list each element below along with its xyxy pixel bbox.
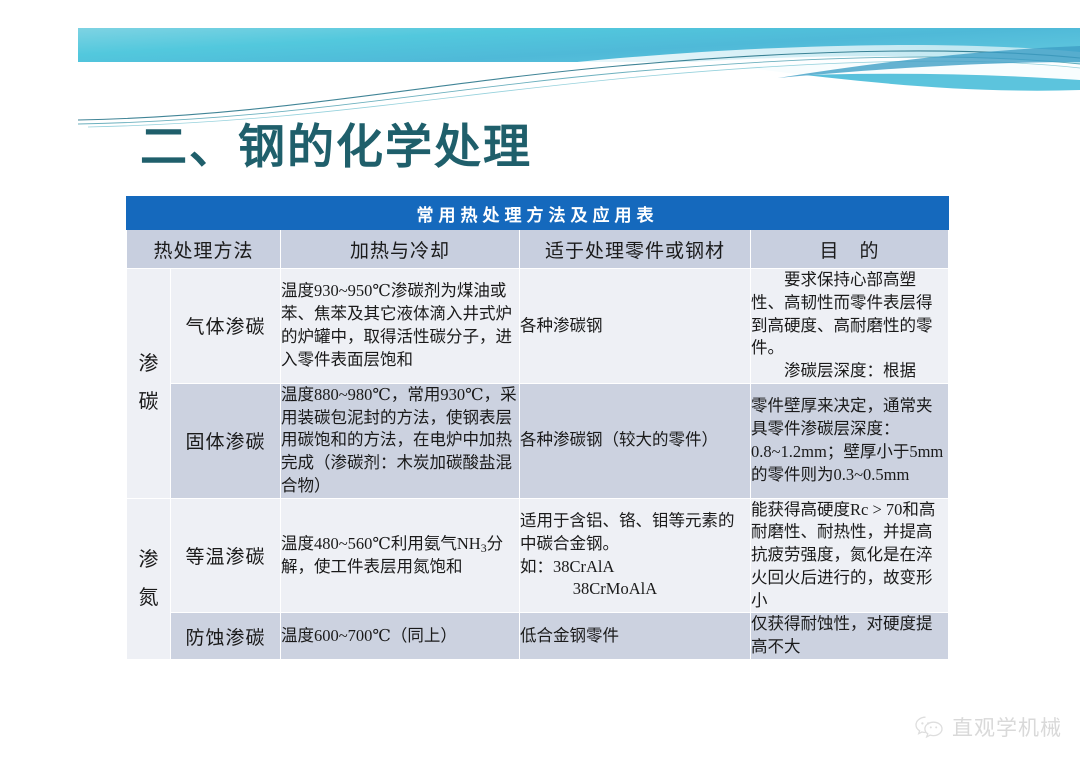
heating-cooling-text: 温度930~950℃渗碳剂为煤油或苯、焦苯及其它液体滴入井式炉的炉罐中，取得活性… bbox=[281, 269, 520, 384]
materials-text: 适用于含铝、铬、钼等元素的中碳合金钢。 如：38CrAlA 38CrMoAlA bbox=[520, 498, 751, 613]
table-row: 渗 氮 等温渗碳 温度480~560℃利用氨气NH3分解，使工件表层用氮饱和 适… bbox=[127, 498, 949, 613]
table-row: 固体渗碳 温度880~980℃，常用930℃，采用装碳包泥封的方法，使钢表层用碳… bbox=[127, 383, 949, 498]
group-label-nitriding: 渗 氮 bbox=[127, 498, 171, 659]
table-caption: 常用热处理方法及应用表 bbox=[127, 197, 949, 230]
purpose-paragraph: 要求保持心部高塑性、高韧性而零件表层得到高硬度、高耐磨性的零件。 bbox=[751, 269, 948, 360]
purpose-paragraph: 仅获得耐蚀性，对硬度提高不大 bbox=[751, 613, 948, 659]
column-header-materials: 适于处理零件或钢材 bbox=[520, 230, 751, 269]
table-header-row: 热处理方法 加热与冷却 适于处理零件或钢材 目 的 bbox=[127, 230, 949, 269]
purpose-paragraph: 能获得高硬度Rc > 70和高耐磨性、耐热性，并提高抗疲劳强度，氮化是在淬火回火… bbox=[751, 499, 948, 613]
heating-cooling-text: 温度880~980℃，常用930℃，采用装碳包泥封的方法，使钢表层用碳饱和的方法… bbox=[281, 383, 520, 498]
watermark: 直观学机械 bbox=[914, 712, 1062, 742]
method-name: 防蚀渗碳 bbox=[171, 613, 281, 660]
materials-paragraph: 如：38CrAlA bbox=[520, 556, 750, 579]
materials-paragraph: 38CrMoAlA bbox=[520, 578, 750, 601]
materials-text: 低合金钢零件 bbox=[520, 613, 751, 660]
purpose-text: 零件壁厚来决定，通常夹具零件渗碳层深度：0.8~1.2mm；壁厚小于5mm的零件… bbox=[751, 383, 949, 498]
method-name: 气体渗碳 bbox=[171, 269, 281, 384]
heating-subscript: 3 bbox=[481, 541, 487, 555]
table-row: 渗 碳 气体渗碳 温度930~950℃渗碳剂为煤油或苯、焦苯及其它液体滴入井式炉… bbox=[127, 269, 949, 384]
purpose-text: 能获得高硬度Rc > 70和高耐磨性、耐热性，并提高抗疲劳强度，氮化是在淬火回火… bbox=[751, 498, 949, 613]
group-label-carburizing: 渗 碳 bbox=[127, 269, 171, 499]
purpose-paragraph: 零件壁厚来决定，通常夹具零件渗碳层深度：0.8~1.2mm；壁厚小于5mm的零件… bbox=[751, 395, 948, 486]
column-header-purpose: 目 的 bbox=[751, 230, 949, 269]
materials-text: 各种渗碳钢 bbox=[520, 269, 751, 384]
column-header-method: 热处理方法 bbox=[127, 230, 281, 269]
materials-text: 各种渗碳钢（较大的零件） bbox=[520, 383, 751, 498]
method-name: 等温渗碳 bbox=[171, 498, 281, 613]
table-caption-row: 常用热处理方法及应用表 bbox=[127, 197, 949, 230]
purpose-text: 要求保持心部高塑性、高韧性而零件表层得到高硬度、高耐磨性的零件。 渗碳层深度：根… bbox=[751, 269, 949, 384]
table-row: 防蚀渗碳 温度600~700℃（同上） 低合金钢零件 仅获得耐蚀性，对硬度提高不… bbox=[127, 613, 949, 660]
wechat-icon bbox=[914, 715, 944, 740]
watermark-text: 直观学机械 bbox=[952, 712, 1062, 742]
heating-text-part: 温度480~560℃利用氨气NH bbox=[281, 534, 481, 553]
purpose-text: 仅获得耐蚀性，对硬度提高不大 bbox=[751, 613, 949, 660]
heat-treatment-table: 常用热处理方法及应用表 热处理方法 加热与冷却 适于处理零件或钢材 目 的 渗 … bbox=[126, 196, 949, 660]
heating-cooling-text: 温度480~560℃利用氨气NH3分解，使工件表层用氮饱和 bbox=[281, 498, 520, 613]
column-header-heating: 加热与冷却 bbox=[281, 230, 520, 269]
page-title: 二、钢的化学处理 bbox=[140, 108, 532, 177]
materials-paragraph: 适用于含铝、铬、钼等元素的中碳合金钢。 bbox=[520, 510, 750, 556]
slide-canvas: 二、钢的化学处理 常用热处理方法及应用表 热处理方法 加热与冷却 适于处理零件或… bbox=[0, 0, 1080, 764]
purpose-paragraph: 渗碳层深度：根据 bbox=[751, 360, 948, 383]
heating-cooling-text: 温度600~700℃（同上） bbox=[281, 613, 520, 660]
method-name: 固体渗碳 bbox=[171, 383, 281, 498]
